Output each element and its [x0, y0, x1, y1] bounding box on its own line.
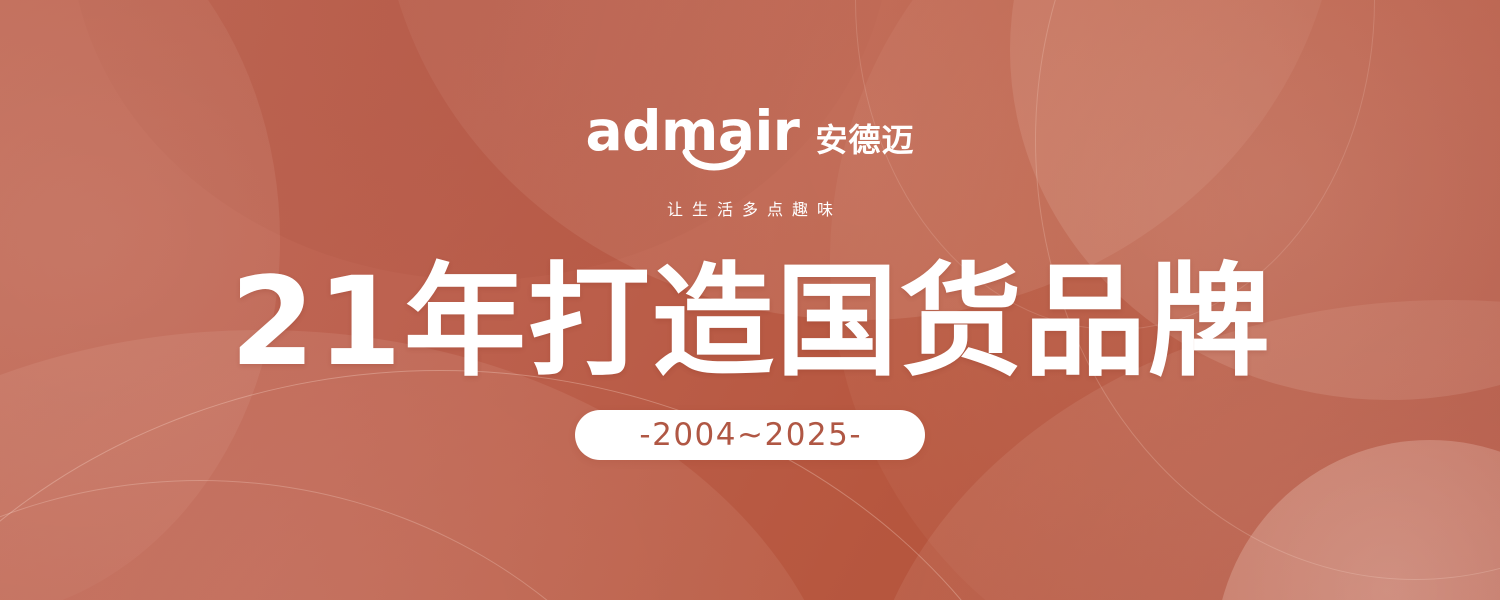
banner-content: admair 安德迈 让生活多点趣味 21年打造国货品牌 -2004~2025- [0, 0, 1500, 600]
promo-banner: admair 安德迈 让生活多点趣味 21年打造国货品牌 -2004~2025- [0, 0, 1500, 600]
brand-logo: admair 安德迈 [586, 104, 915, 159]
banner-headline: 21年打造国货品牌 [228, 261, 1272, 383]
year-range-badge: -2004~2025- [575, 410, 925, 460]
smile-curve-icon [682, 148, 746, 176]
brand-tagline: 让生活多点趣味 [658, 196, 842, 220]
brand-chinese-name: 安德迈 [815, 124, 914, 159]
year-range-text: -2004~2025- [638, 420, 862, 451]
